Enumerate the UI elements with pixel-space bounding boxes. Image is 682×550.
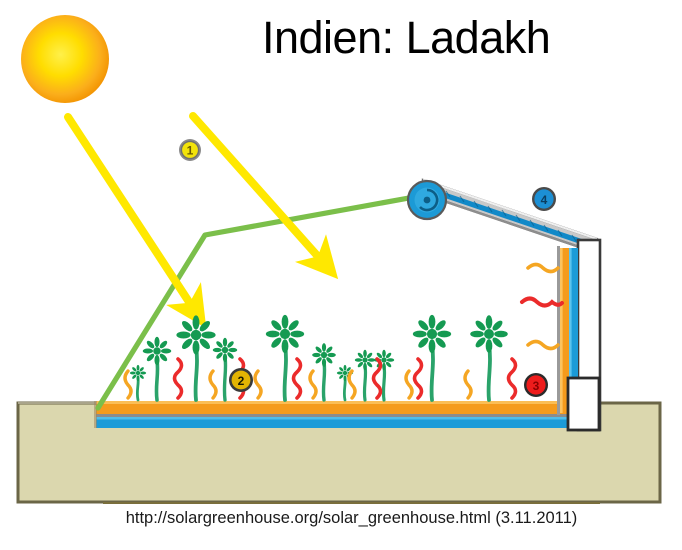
plant-row bbox=[130, 315, 508, 400]
sun-icon bbox=[21, 15, 109, 103]
plant bbox=[355, 350, 375, 400]
marker-2[interactable]: 2 bbox=[229, 368, 253, 392]
marker-4-label: 4 bbox=[541, 193, 548, 207]
source-caption: http://solargreenhouse.org/solar_greenho… bbox=[103, 509, 600, 528]
plant bbox=[143, 337, 172, 400]
marker-1-label: 1 bbox=[187, 144, 194, 158]
roof-panel bbox=[423, 180, 597, 253]
solar-greenhouse-diagram: 1 2 3 4 bbox=[0, 0, 682, 505]
plant bbox=[470, 315, 508, 400]
plant bbox=[176, 315, 215, 400]
caption-divider bbox=[103, 502, 600, 504]
slide-canvas: Indien: Ladakh bbox=[0, 0, 682, 550]
marker-1[interactable]: 1 bbox=[179, 139, 201, 161]
plant bbox=[130, 365, 146, 400]
north-wall bbox=[557, 240, 600, 430]
marker-2-label: 2 bbox=[238, 374, 245, 388]
sun-ray-arrow-2 bbox=[193, 116, 322, 261]
south-glazing-line bbox=[98, 196, 420, 408]
insulation-roller bbox=[408, 181, 446, 219]
sun-ray-arrow-1 bbox=[68, 117, 193, 308]
marker-3-label: 3 bbox=[533, 379, 540, 393]
marker-3[interactable]: 3 bbox=[524, 373, 548, 397]
marker-4[interactable]: 4 bbox=[532, 187, 556, 211]
floor-insulation bbox=[94, 401, 580, 428]
